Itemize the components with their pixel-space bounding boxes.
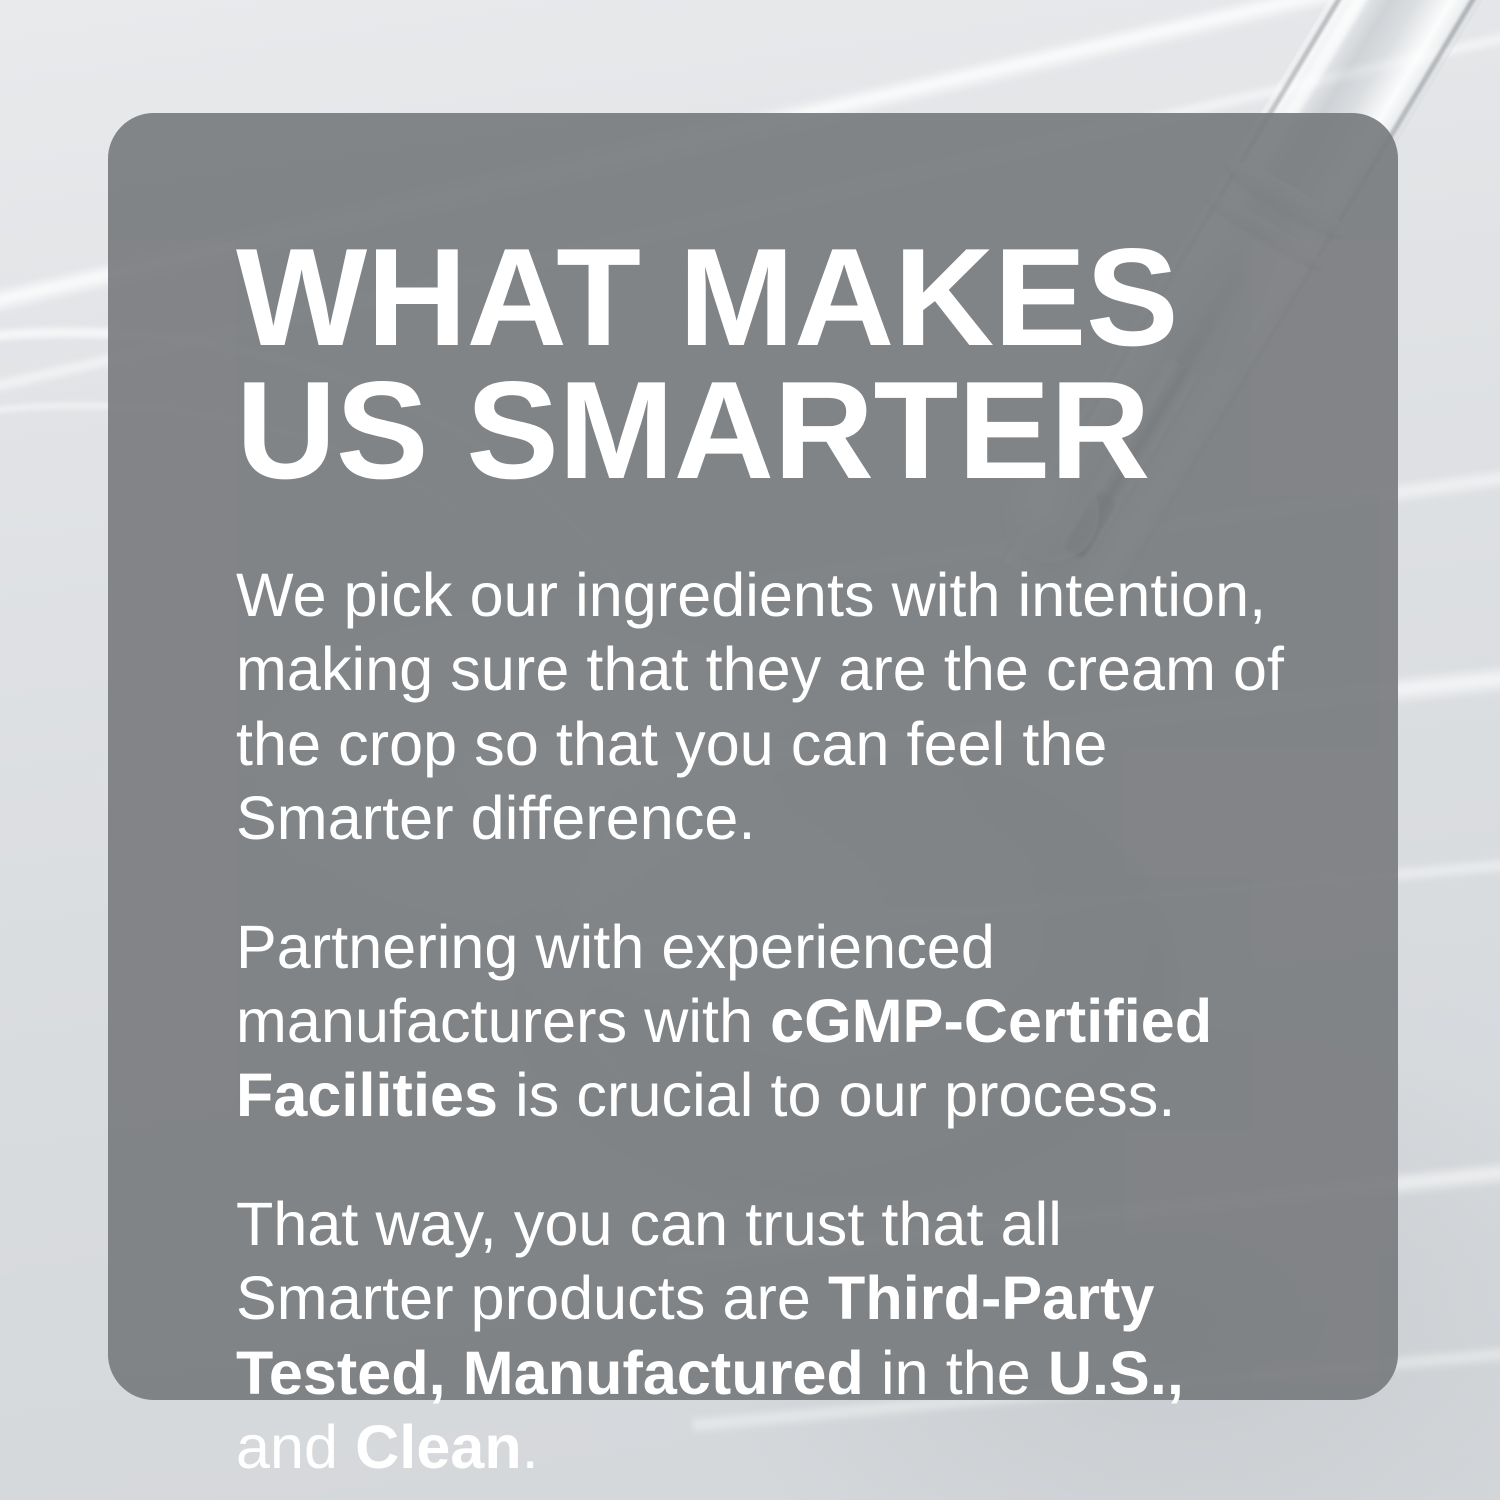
product-info-graphic: WHAT MAKES US SMARTER We pick our ingred…	[0, 0, 1500, 1500]
page-title: WHAT MAKES US SMARTER	[236, 231, 1196, 498]
body-copy: We pick our ingredients with intention, …	[236, 558, 1290, 1484]
paragraph-trust: That way, you can trust that all Smarter…	[236, 1187, 1290, 1485]
info-card: WHAT MAKES US SMARTER We pick our ingred…	[108, 113, 1398, 1400]
paragraph-manufacturing: Partnering with experienced manufacturer…	[236, 910, 1290, 1133]
paragraph-ingredients: We pick our ingredients with intention, …	[236, 558, 1290, 856]
